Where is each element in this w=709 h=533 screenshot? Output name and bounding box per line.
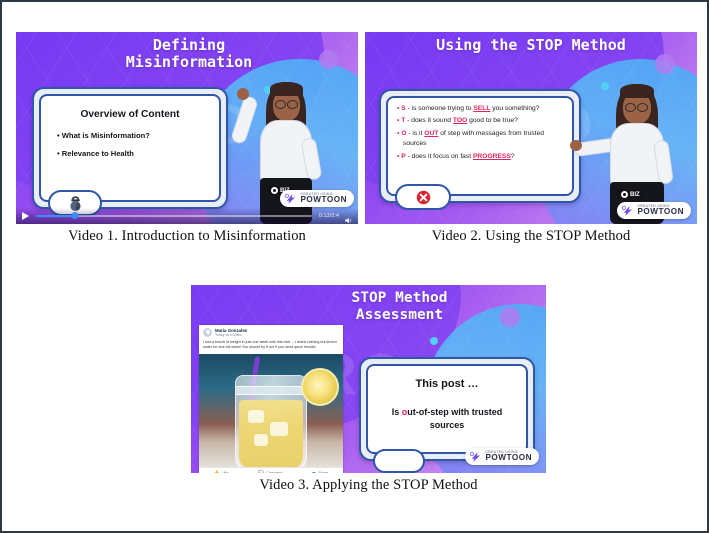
- powtoon-text: CREATED USING POWTOON: [637, 205, 684, 217]
- biz-badge: BIZ: [618, 190, 643, 199]
- progress-scrubber[interactable]: [36, 215, 312, 217]
- red-x-icon[interactable]: [395, 184, 451, 210]
- ice-cube: [270, 422, 288, 436]
- post-author-block: Maria Gonzales Today at 6:00am: [215, 328, 247, 338]
- video2-whiteboard-inner: • S - is someone trying to SELL you some…: [386, 96, 574, 196]
- post-image: [199, 354, 343, 467]
- post-header: Maria Gonzales Today at 6:00am: [199, 325, 343, 339]
- post-body-text: I lost a bunch of weight in just one wee…: [199, 339, 343, 354]
- progress-knob[interactable]: [71, 212, 78, 219]
- stop-pre-t: - does it sound: [405, 117, 453, 124]
- stop-kw-too: TOO: [453, 117, 467, 124]
- verdict-pre: Is: [392, 407, 402, 417]
- figure-video3: PRO STOP Method Assessment Maria Gonzale…: [191, 285, 546, 494]
- ice-cube: [254, 434, 268, 446]
- ice-cube: [248, 410, 264, 423]
- stop-pre-s: - is someone trying to: [406, 105, 474, 112]
- jar-band: [235, 386, 307, 395]
- video3-caption: Video 3. Applying the STOP Method: [191, 477, 546, 494]
- play-icon[interactable]: [22, 212, 29, 220]
- video3-blank-pill[interactable]: [373, 449, 425, 473]
- video1-whiteboard-inner: Overview of Content • What is Misinforma…: [39, 94, 221, 202]
- comment-label: Comment: [266, 471, 282, 473]
- stop-item-o: • O - is it OUT of step with messages fr…: [397, 129, 565, 150]
- video2-slide[interactable]: PRO Using the STOP Method • S - is someo…: [365, 32, 697, 224]
- powtoon-text: CREATED USING POWTOON: [300, 193, 347, 205]
- stop-pre-o: - is it: [406, 130, 424, 137]
- decorative-dot-large: [655, 54, 675, 74]
- video1-board-bullet-2: • Relevance to Health: [57, 149, 219, 158]
- stop-item-p: • P - does it focus on fast PROGRESS?: [397, 152, 565, 162]
- lemon-slice-graphic: [301, 368, 339, 406]
- powtoon-watermark[interactable]: CREATED USING POWTOON: [280, 190, 354, 207]
- powtoon-mark-icon: [469, 450, 482, 463]
- stop-kw-progress: PROGRESS: [473, 153, 511, 160]
- stop-post-p: ?: [511, 153, 515, 160]
- like-label: Like: [222, 471, 229, 473]
- video-player-controls[interactable]: 0:13/2:4: [16, 208, 358, 224]
- share-icon: ➦: [312, 470, 316, 473]
- stop-pre-p: - does it focus on fast: [406, 153, 473, 160]
- character-glasses-left: [275, 100, 286, 109]
- video3-board-verdict: Is out-of-step with trusted sources: [374, 406, 520, 432]
- biz-ring-icon: [621, 191, 628, 198]
- video3-slide-title: STOP Method Assessment: [191, 290, 546, 324]
- speaker-icon[interactable]: [344, 212, 353, 221]
- character-glasses-left: [625, 103, 636, 112]
- powtoon-watermark[interactable]: CREATED USING POWTOON: [465, 448, 539, 465]
- powtoon-mark-icon: [284, 192, 297, 205]
- verdict-post: ut-of-step with trusted sources: [407, 407, 502, 430]
- figure-video1: PRO Defining Misinformation Overview of …: [16, 32, 358, 245]
- video3-slide[interactable]: PRO STOP Method Assessment Maria Gonzale…: [191, 285, 546, 473]
- stop-post-t: good to be true?: [467, 117, 518, 124]
- video2-caption: Video 2. Using the STOP Method: [365, 228, 697, 245]
- powtoon-brand: POWTOON: [637, 208, 684, 216]
- character-hair-front: [620, 84, 654, 98]
- character-raised-arm: [230, 95, 259, 145]
- video3-whiteboard: This post … Is out-of-step with trusted …: [359, 357, 535, 461]
- progress-filled: [36, 215, 75, 217]
- character-glasses-right: [287, 100, 298, 109]
- stop-kw-sell: SELL: [473, 105, 490, 112]
- powtoon-text: CREATED USING POWTOON: [485, 451, 532, 463]
- video3-board-heading: This post …: [368, 378, 526, 390]
- stop-kw-out: OUT: [424, 130, 438, 137]
- post-like-button[interactable]: 👍 Like: [214, 470, 229, 473]
- video1-board-bullet-1: • What is Misinformation?: [57, 131, 219, 140]
- thumbs-up-icon: 👍: [214, 470, 220, 473]
- post-share-button[interactable]: ➦ Share: [312, 470, 328, 473]
- video2-slide-title: Using the STOP Method: [365, 37, 697, 54]
- video3-whiteboard-inner: This post … Is out-of-step with trusted …: [366, 364, 528, 454]
- stop-method-list: • S - is someone trying to SELL you some…: [397, 104, 565, 164]
- time-display: 0:13/2:4: [319, 213, 339, 219]
- video1-board-heading: Overview of Content: [41, 109, 219, 120]
- stop-item-s: • S - is someone trying to SELL you some…: [397, 104, 565, 114]
- character-hand: [237, 88, 249, 100]
- stop-post-s: you something?: [490, 105, 539, 112]
- post-comment-button[interactable]: 💬 Comment: [258, 470, 282, 473]
- powtoon-brand: POWTOON: [485, 454, 532, 462]
- character-hand: [570, 140, 582, 151]
- video1-slide[interactable]: PRO Defining Misinformation Overview of …: [16, 32, 358, 224]
- video1-slide-title: Defining Misinformation: [16, 37, 358, 72]
- social-media-post[interactable]: Maria Gonzales Today at 6:00am I lost a …: [199, 325, 343, 473]
- share-label: Share: [318, 471, 328, 473]
- powtoon-mark-icon: [621, 204, 634, 217]
- character-hair-front: [270, 82, 303, 96]
- decorative-dot-small: [430, 337, 438, 345]
- mason-jar-graphic: [235, 375, 307, 467]
- video1-caption: Video 1. Introduction to Misinformation: [16, 228, 358, 245]
- stop-item-t: • T - does it sound TOO good to be true?: [397, 116, 565, 126]
- comment-icon: 💬: [258, 470, 264, 473]
- powtoon-brand: POWTOON: [300, 196, 347, 204]
- powtoon-watermark[interactable]: CREATED USING POWTOON: [617, 202, 691, 219]
- post-action-bar[interactable]: 👍 Like 💬 Comment ➦ Share: [199, 467, 343, 473]
- avatar: [203, 328, 212, 337]
- biz-ring-icon: [271, 187, 278, 194]
- page-root: PRO Defining Misinformation Overview of …: [0, 0, 709, 533]
- figure-video2: PRO Using the STOP Method • S - is someo…: [365, 32, 697, 245]
- biz-label: BIZ: [630, 192, 640, 198]
- character-glasses-right: [637, 103, 648, 112]
- post-timestamp: Today at 6:00am: [215, 333, 247, 338]
